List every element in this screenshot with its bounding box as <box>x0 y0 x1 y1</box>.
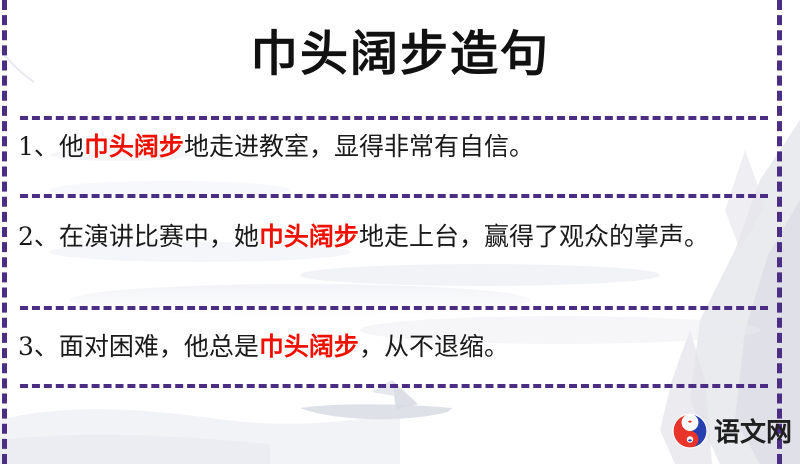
logo-text: 语文网 <box>714 412 792 449</box>
sentence-text-after: 地走上台，赢得了观众的掌声。 <box>359 222 709 251</box>
site-logo[interactable]: 语文网 <box>672 412 792 449</box>
divider-2 <box>20 194 768 198</box>
divider-1 <box>20 116 768 120</box>
sentence-text-before: 在演讲比赛中，她 <box>59 222 259 251</box>
sentence-text-after: ，从不退缩。 <box>359 332 509 361</box>
worksheet-page: 巾头阔步造句 1、他巾头阔步地走进教室，显得非常有自信。 2、在演讲比赛中，她巾… <box>0 0 800 464</box>
yinyang-fish-logo-icon <box>672 413 708 449</box>
sentence-text-after: 地走进教室，显得非常有自信。 <box>184 132 534 161</box>
sentence-number: 3、 <box>18 332 59 361</box>
sentence-text-before: 面对困难，他总是 <box>59 332 259 361</box>
sentence-item: 3、面对困难，他总是巾头阔步，从不退缩。 <box>18 326 766 368</box>
idiom-highlight: 巾头阔步 <box>84 132 184 161</box>
sentence-number: 2、 <box>18 222 59 251</box>
divider-4 <box>20 384 768 388</box>
page-title: 巾头阔步造句 <box>0 22 800 86</box>
sentence-text-before: 他 <box>59 132 84 161</box>
idiom-highlight: 巾头阔步 <box>259 332 359 361</box>
idiom-highlight: 巾头阔步 <box>259 222 359 251</box>
sentence-item: 1、他巾头阔步地走进教室，显得非常有自信。 <box>18 126 766 168</box>
sentence-number: 1、 <box>18 132 59 161</box>
divider-3 <box>20 306 768 310</box>
sentence-item: 2、在演讲比赛中，她巾头阔步地走上台，赢得了观众的掌声。 <box>18 216 766 258</box>
